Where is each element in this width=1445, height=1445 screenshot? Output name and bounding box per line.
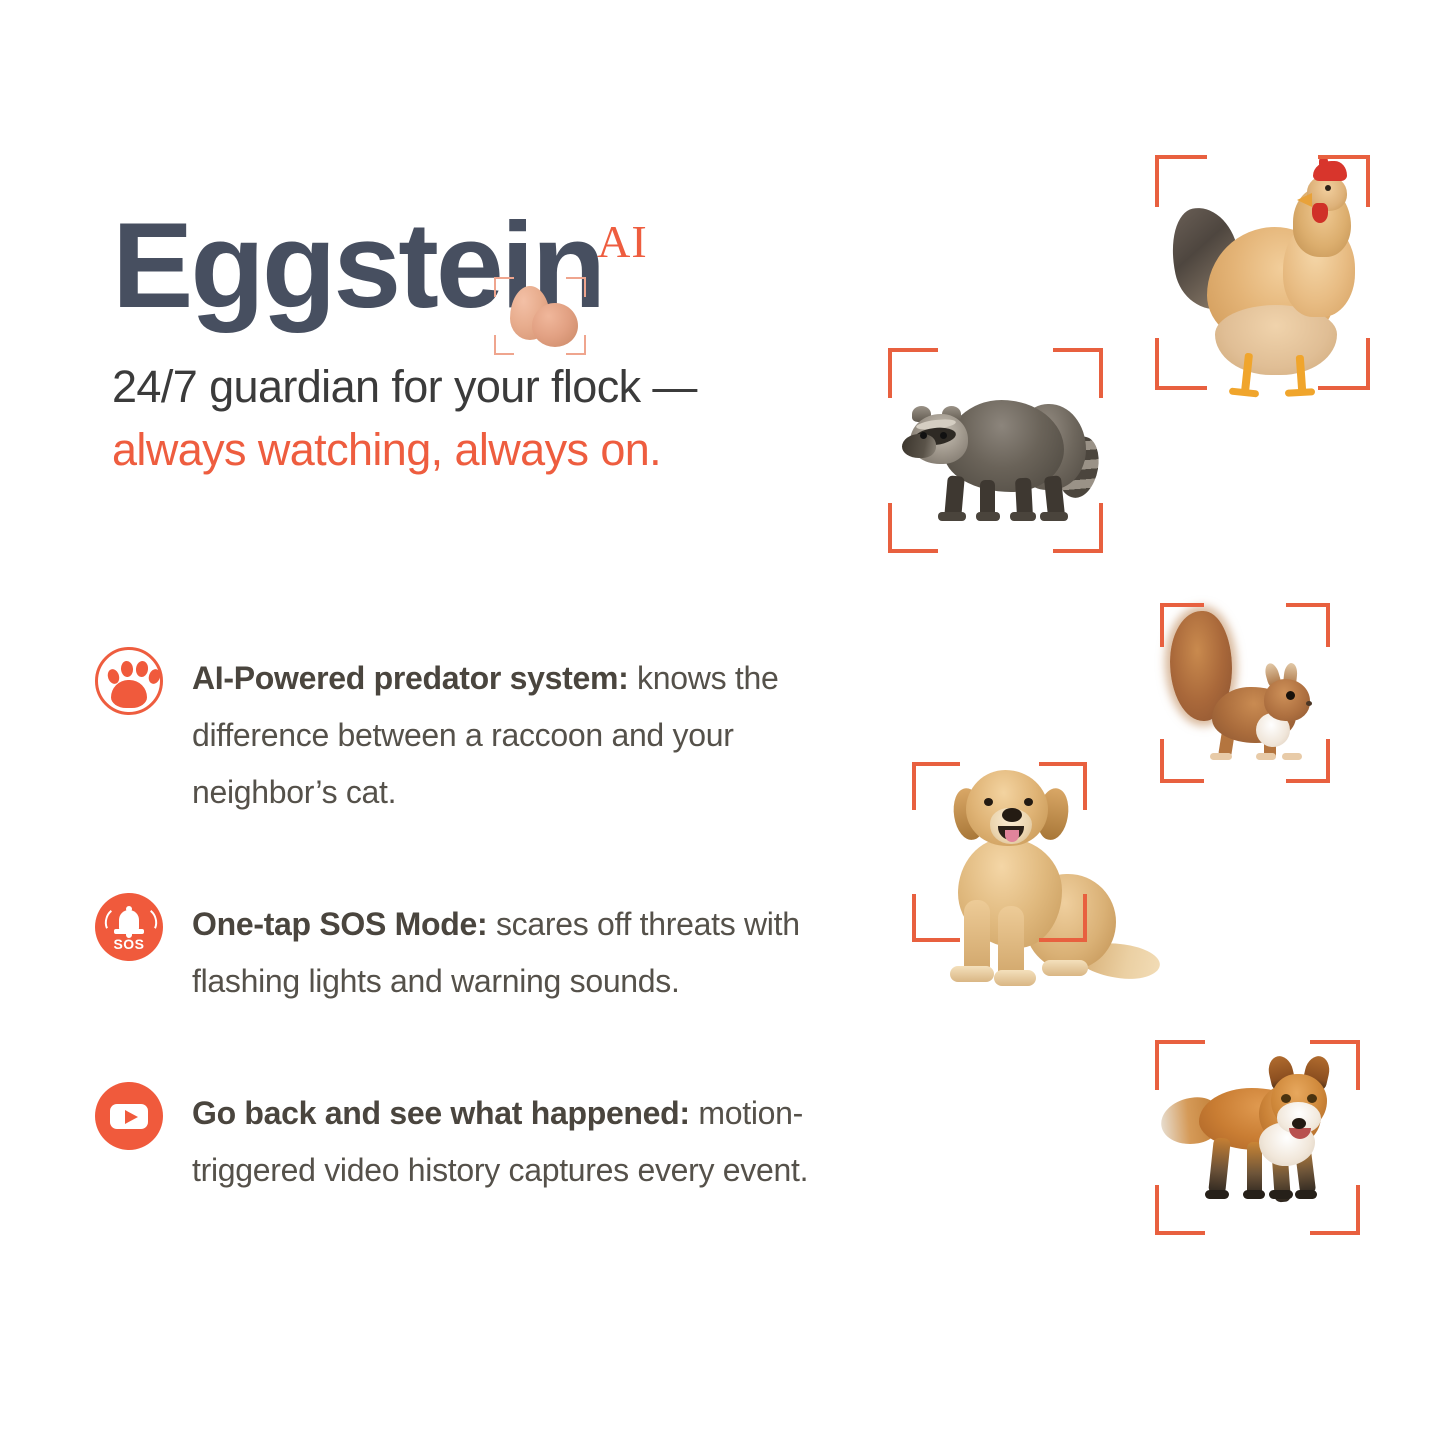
feature-item-predator-system: AI-Powered predator system: knows the di…: [88, 640, 848, 821]
feature-heading: AI-Powered predator system:: [192, 660, 628, 696]
promo-canvas: Eggstein AI 24/7 guardian for your flock…: [0, 0, 1445, 1445]
detection-card-fox: [1155, 1040, 1360, 1235]
brand-superscript-ai: AI: [597, 219, 648, 265]
egg-detection-badge-icon: [494, 277, 586, 355]
tagline-line-1: 24/7 guardian for your flock —: [112, 355, 832, 418]
feature-text: One-tap SOS Mode: scares off threats wit…: [192, 886, 832, 1010]
dog-photo: [902, 754, 1152, 1054]
tagline-line-2: always watching, always on.: [112, 418, 832, 481]
feature-list: AI-Powered predator system: knows the di…: [88, 640, 848, 1199]
sos-label: SOS: [95, 936, 163, 952]
detection-card-chicken: [1155, 155, 1370, 390]
feature-heading: One-tap SOS Mode:: [192, 906, 487, 942]
content-column: Eggstein AI 24/7 guardian for your flock…: [0, 0, 850, 1445]
brand-logo: Eggstein AI: [112, 205, 812, 340]
detection-card-dog: [912, 762, 1087, 942]
feature-text: AI-Powered predator system: knows the di…: [192, 640, 832, 821]
feature-item-video-history: Go back and see what happened: motion-tr…: [88, 1075, 848, 1199]
detection-card-squirrel: [1160, 603, 1330, 783]
egg-front: [532, 303, 578, 347]
video-play-icon: [88, 1075, 170, 1157]
paw-print-icon: [88, 640, 170, 722]
detection-gallery: [850, 0, 1445, 1445]
tagline: 24/7 guardian for your flock — always wa…: [112, 355, 832, 481]
sos-bell-icon: SOS: [88, 886, 170, 968]
feature-heading: Go back and see what happened:: [192, 1095, 690, 1131]
detection-card-raccoon: [888, 348, 1103, 553]
feature-item-sos-mode: SOS One-tap SOS Mode: scares off threats…: [88, 886, 848, 1010]
feature-text: Go back and see what happened: motion-tr…: [192, 1075, 832, 1199]
